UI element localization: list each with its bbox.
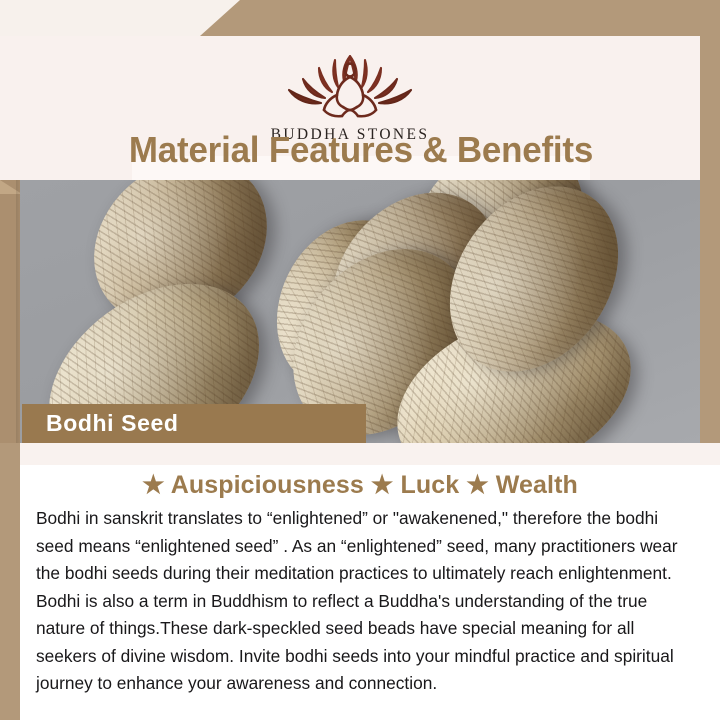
frame-corner-bevel-top-left — [0, 0, 240, 36]
content-top-strip — [20, 443, 720, 465]
page-title: Material Features & Benefits — [139, 122, 583, 178]
lotus-meditation-icon — [275, 46, 425, 124]
body-paragraph: Bodhi in sanskrit translates to “enlight… — [36, 505, 681, 698]
frame-left-bottom — [0, 443, 20, 720]
infographic-page: BUDDHA STONES Material Features & Benefi… — [0, 0, 720, 720]
benefits-heading: ★ Auspiciousness ★ Luck ★ Wealth — [20, 470, 700, 500]
photo-caption-label: Bodhi Seed — [46, 410, 179, 437]
photo-caption-badge: Bodhi Seed — [22, 404, 366, 443]
frame-left-photo — [0, 180, 22, 443]
